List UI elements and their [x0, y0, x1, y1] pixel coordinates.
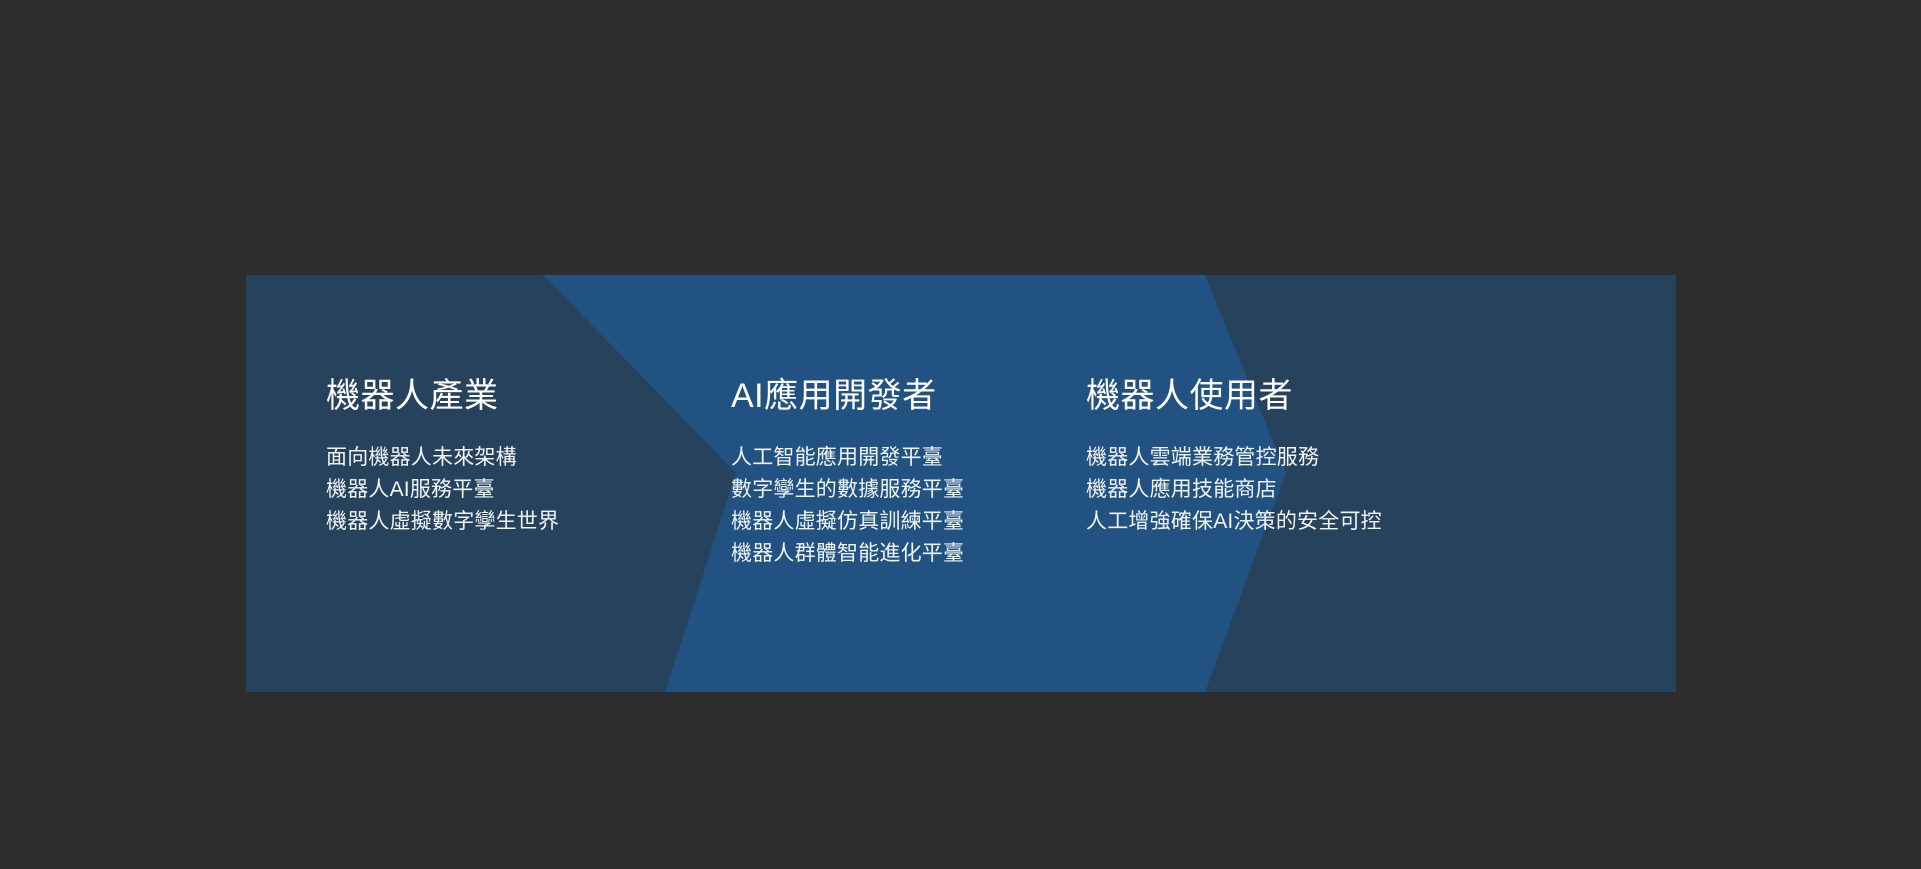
list-item: 機器人AI服務平臺 — [326, 474, 559, 506]
column-robot-user: 機器人使用者 機器人雲端業務管控服務 機器人應用技能商店 人工增強確保AI決策的… — [1086, 275, 1566, 692]
column-heading: AI應用開發者 — [731, 376, 937, 416]
column-item-list: 人工智能應用開發平臺 數字孿生的數據服務平臺 機器人虛擬仿真訓練平臺 機器人群體… — [731, 442, 964, 570]
list-item: 機器人應用技能商店 — [1086, 474, 1382, 506]
list-item: 數字孿生的數據服務平臺 — [731, 474, 964, 506]
list-item: 機器人虛擬數字孿生世界 — [326, 506, 559, 538]
list-item: 面向機器人未來架構 — [326, 442, 559, 474]
slide-canvas: 機器人產業 面向機器人未來架構 機器人AI服務平臺 機器人虛擬數字孿生世界 AI… — [0, 0, 1921, 869]
list-item: 機器人群體智能進化平臺 — [731, 538, 964, 570]
list-item: 機器人雲端業務管控服務 — [1086, 442, 1382, 474]
column-item-list: 面向機器人未來架構 機器人AI服務平臺 機器人虛擬數字孿生世界 — [326, 442, 559, 538]
column-heading: 機器人產業 — [326, 376, 499, 416]
three-stage-banner: 機器人產業 面向機器人未來架構 機器人AI服務平臺 機器人虛擬數字孿生世界 AI… — [246, 275, 1676, 692]
column-item-list: 機器人雲端業務管控服務 機器人應用技能商店 人工增強確保AI決策的安全可控 — [1086, 442, 1382, 538]
list-item: 人工智能應用開發平臺 — [731, 442, 964, 474]
column-heading: 機器人使用者 — [1086, 376, 1293, 416]
list-item: 人工增強確保AI決策的安全可控 — [1086, 506, 1382, 538]
list-item: 機器人虛擬仿真訓練平臺 — [731, 506, 964, 538]
column-robot-industry: 機器人產業 面向機器人未來架構 機器人AI服務平臺 機器人虛擬數字孿生世界 — [326, 275, 746, 692]
